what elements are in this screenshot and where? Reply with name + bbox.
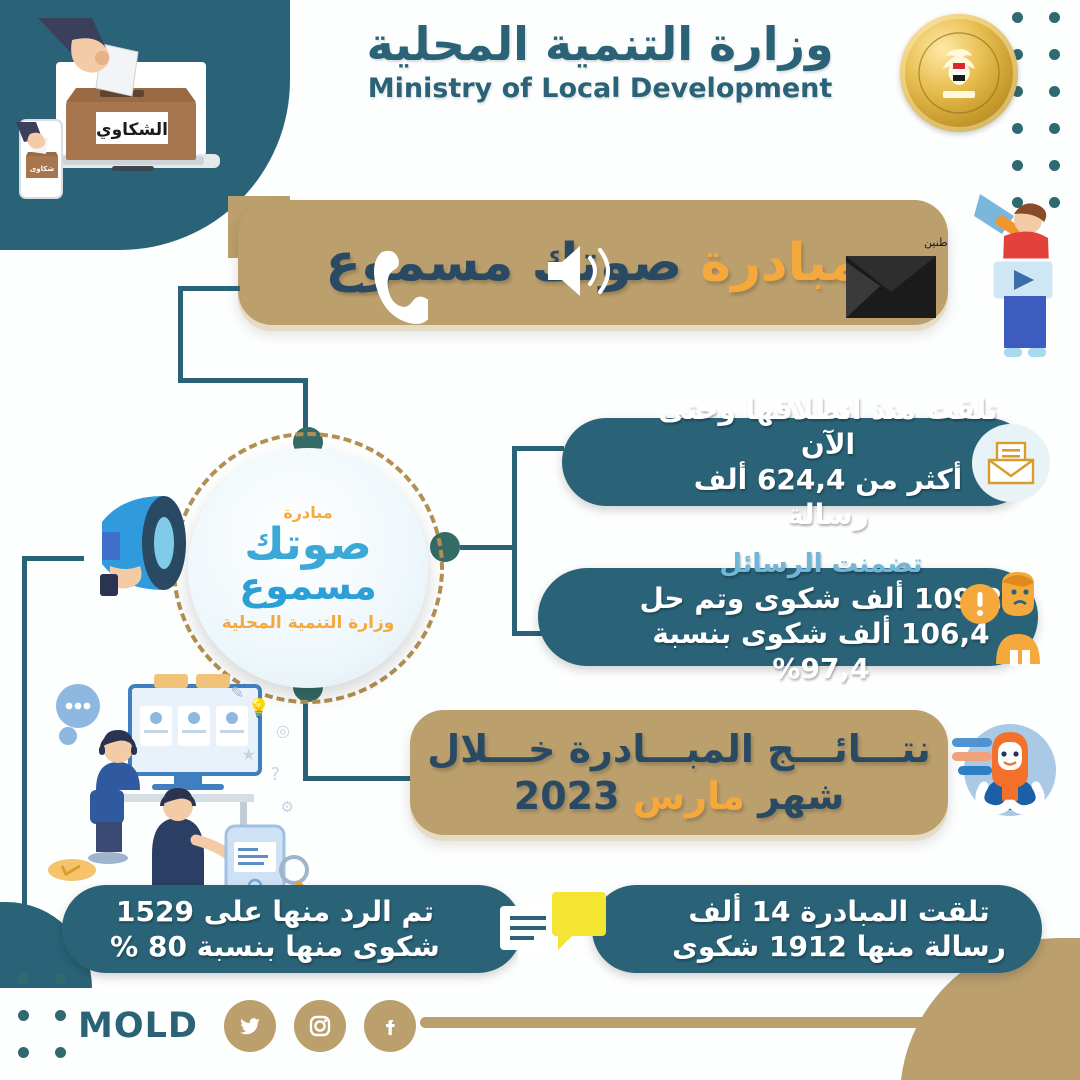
connector-banner-v1 <box>178 286 183 382</box>
pill-march-messages-line2: رسالة منها 1912 شكوى <box>662 929 1016 964</box>
twitter-glyph <box>236 1012 264 1040</box>
page-header: وزارة التنمية المحلية Ministry of Local … <box>300 18 900 104</box>
egypt-eagle-emblem <box>900 14 1018 132</box>
results-banner-line2: شهر مارس 2023 <box>427 773 931 819</box>
initiative-logo-circle: مبادرة صوتك مسموع وزارة التنمية المحلية <box>188 448 428 688</box>
speaker-wave-icon <box>540 236 630 306</box>
dot-grid-bottom-left <box>18 973 66 1058</box>
pill-total-messages: تلقت منذ انطلاقها وحتى الآن أكثر من 624,… <box>562 418 1032 506</box>
gold-footer-rule <box>420 1017 980 1028</box>
results-banner-month: مارس <box>633 774 745 818</box>
envelope-document-glyph <box>985 440 1037 486</box>
pill-march-replies-body: تم الرد منها على 1529 شكوى منها بنسبة 80… <box>88 894 462 964</box>
eagle-glyph <box>913 27 1005 119</box>
chat-bubbles-icon <box>498 886 608 972</box>
pill-march-messages-line1: تلقت المبادرة 14 ألف <box>662 894 1016 929</box>
svg-text:?: ? <box>270 764 280 785</box>
envelope-document-icon <box>972 424 1050 502</box>
pill-march-messages-body: تلقت المبادرة 14 ألف رسالة منها 1912 شكو… <box>662 894 1016 964</box>
man-with-megaphone-illustration <box>952 188 1070 368</box>
pill-complaints-resolved-head: تضمنت الرسائل <box>630 548 1012 581</box>
connector-left-spine-v <box>22 556 27 936</box>
pill-complaints-resolved-line2: 106,4 ألف شكوى بنسبة 97,4% <box>630 616 1012 686</box>
logo-line-sawtak: صوتك <box>244 524 372 566</box>
complaints-ballot-box-laptop-illustration: الشكاوي شكاوى <box>14 16 264 216</box>
infographic-canvas: الشكاوي شكاوى وزارة التنمية المحلية Mini… <box>0 0 1080 1080</box>
pill-march-replies-line2: شكوى منها بنسبة 80 % <box>88 929 462 964</box>
connector-banner-h2 <box>178 378 308 383</box>
results-banner-line1: نتـــائـــج المبـــادرة خـــلال <box>427 726 931 772</box>
pill-march-replies: تم الرد منها على 1529 شكوى منها بنسبة 80… <box>62 885 522 973</box>
connector-banner-h1 <box>178 286 240 291</box>
connector-pill1-h <box>512 446 564 451</box>
twitter-icon[interactable] <box>224 1000 276 1052</box>
results-banner-text: نتـــائـــج المبـــادرة خـــلال شهر مارس… <box>427 726 931 819</box>
connector-right-h <box>460 545 516 550</box>
telephone-handset-icon <box>368 248 428 332</box>
ballot-phone-label: شكاوى <box>30 165 54 173</box>
pill-complaints-resolved-line1: 109,2 ألف شكوى وتم حل <box>630 581 1012 616</box>
logo-line-ministry: وزارة التنمية المحلية <box>222 613 395 633</box>
pill-march-messages: تلقت المبادرة 14 ألف رسالة منها 1912 شكو… <box>592 885 1042 973</box>
svg-text:✎: ✎ <box>231 683 244 702</box>
ministry-title-arabic: وزارة التنمية المحلية <box>300 18 900 71</box>
dot-grid-top-right <box>1012 12 1060 208</box>
footer: MOLD <box>78 1000 416 1052</box>
results-banner-month-prefix: شهر <box>758 774 844 818</box>
instagram-icon[interactable] <box>294 1000 346 1052</box>
ballot-box-label: الشكاوي <box>96 120 168 140</box>
results-banner-year: 2023 <box>514 774 620 818</box>
angry-citizen-icon <box>958 570 1062 668</box>
citizens-complaints-envelope-icon: شكاوى المواطنين <box>828 232 948 342</box>
svg-text:💡: 💡 <box>248 697 270 719</box>
ministry-title-english: Ministry of Local Development <box>300 73 900 104</box>
woman-with-phone-illustration <box>948 712 1068 852</box>
facebook-glyph <box>377 1013 403 1039</box>
connector-left-spine-top <box>22 556 84 561</box>
pill-total-messages-line1: تلقت منذ انطلاقها وحتى الآن <box>650 392 1006 462</box>
facebook-icon[interactable] <box>364 1000 416 1052</box>
pill-total-messages-line2: أكثر من 624,4 ألف رسالة <box>650 462 1006 532</box>
connector-right-v <box>512 446 517 636</box>
pill-complaints-resolved-body: تضمنت الرسائل 109,2 ألف شكوى وتم حل 106,… <box>630 548 1012 686</box>
svg-text:★: ★ <box>242 745 256 764</box>
logo-line-masmou: مسموع <box>239 567 376 605</box>
pill-march-replies-line1: تم الرد منها على 1529 <box>88 894 462 929</box>
call-center-team-illustration: ✎ 💡 ◎ ★ ? ⚙ <box>44 662 324 902</box>
svg-text:◎: ◎ <box>276 721 290 740</box>
results-banner: نتـــائـــج المبـــادرة خـــلال شهر مارس… <box>410 710 948 835</box>
svg-text:⚙: ⚙ <box>281 798 294 816</box>
instagram-glyph <box>306 1012 334 1040</box>
pill-total-messages-body: تلقت منذ انطلاقها وحتى الآن أكثر من 624,… <box>650 392 1006 532</box>
footer-brand: MOLD <box>78 1006 198 1046</box>
citizens-complaints-badge: شكاوى المواطنين <box>924 236 948 249</box>
